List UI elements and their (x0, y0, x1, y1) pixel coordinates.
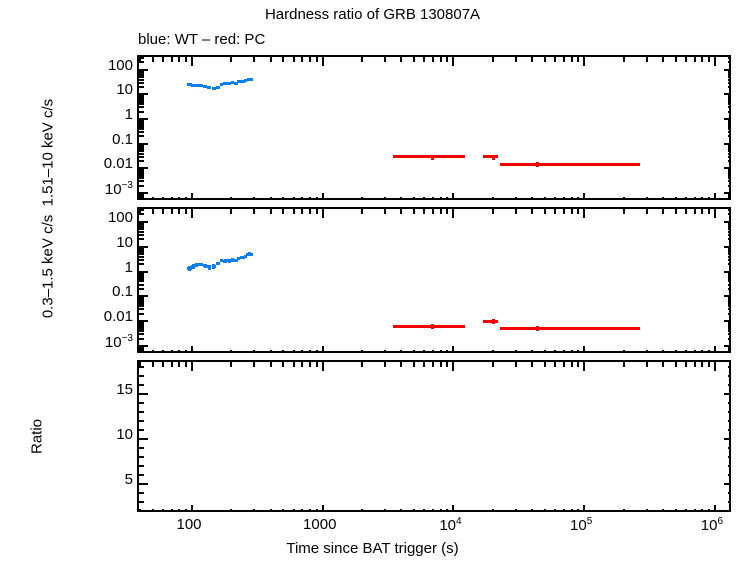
x-tick-minor (544, 197, 546, 198)
x-tick-minor (531, 197, 533, 198)
x-tick-minor (577, 350, 579, 351)
x-tick-major (322, 346, 324, 351)
y-tick-minor (728, 328, 729, 330)
y-tick-major (724, 192, 729, 194)
x-tick-major (452, 505, 454, 510)
x-tick-minor (440, 509, 442, 510)
y-tick-minor (139, 150, 144, 152)
x-tick-minor (400, 362, 402, 367)
x-tick-major (714, 209, 716, 218)
y-tick-label: 10−3 (63, 180, 133, 198)
wt-data-point-yerr (208, 86, 211, 89)
x-tick-minor (152, 209, 154, 214)
y-tick-minor (139, 228, 144, 230)
x-tick-minor (544, 362, 546, 367)
y-tick-minor (728, 128, 729, 130)
x-tick-major (583, 57, 585, 66)
x-tick-minor (361, 57, 363, 62)
y-tick-minor (139, 234, 144, 236)
x-tick-minor (361, 362, 363, 367)
wt-data-point-yerr (208, 265, 211, 270)
panel-hard-band (137, 55, 731, 200)
y-tick-major (139, 271, 148, 273)
x-tick-minor (685, 509, 687, 510)
x-tick-minor (316, 509, 318, 510)
y-tick-label: 0.1 (63, 283, 133, 300)
x-tick-major (452, 346, 454, 351)
x-tick-minor (384, 209, 386, 214)
panel-soft-band (137, 207, 731, 353)
x-tick-minor (316, 362, 318, 367)
y-tick-minor (139, 492, 144, 494)
x-tick-minor (413, 509, 415, 510)
y-tick-minor (139, 429, 144, 431)
x-tick-minor (694, 57, 696, 62)
x-tick-minor (309, 509, 311, 510)
x-tick-minor (253, 509, 255, 510)
y-tick-minor (139, 135, 144, 137)
y-tick-minor (139, 366, 144, 368)
x-tick-minor (423, 362, 425, 367)
y-tick-minor (139, 185, 144, 187)
x-tick-minor (316, 209, 318, 214)
x-tick-minor (253, 197, 255, 198)
x-tick-minor (270, 197, 272, 198)
y-tick-minor (728, 231, 729, 233)
y-tick-minor (139, 284, 144, 286)
x-tick-minor (544, 57, 546, 62)
x-tick-minor (230, 209, 232, 214)
x-tick-minor (400, 209, 402, 214)
x-tick-minor (446, 509, 448, 510)
x-tick-minor (282, 57, 284, 62)
y-tick-label: 15 (63, 381, 133, 398)
x-tick-minor (623, 197, 625, 198)
x-tick-major (322, 505, 324, 510)
y-tick-label: 1 (63, 106, 133, 123)
y-tick-major (139, 295, 148, 297)
x-tick-minor (446, 57, 448, 62)
y-tick-minor (728, 492, 729, 494)
y-tick-minor (728, 76, 729, 78)
x-tick-minor (413, 209, 415, 214)
x-tick-minor (571, 57, 573, 62)
x-tick-minor (544, 209, 546, 214)
x-tick-minor (230, 350, 232, 351)
y-tick-minor (728, 153, 729, 155)
y-tick-minor (728, 333, 729, 335)
x-tick-minor (413, 57, 415, 62)
y-tick-minor (728, 474, 729, 476)
y-tick-minor (728, 79, 729, 81)
wt-data-point-yerr (204, 85, 207, 88)
x-tick-minor (577, 197, 579, 198)
y-tick-minor (728, 103, 729, 105)
x-tick-minor (413, 362, 415, 367)
x-tick-minor (152, 350, 154, 351)
y-tick-major (724, 143, 729, 145)
x-tick-minor (162, 350, 164, 351)
y-tick-minor (139, 76, 144, 78)
x-tick-minor (400, 350, 402, 351)
x-tick-minor (544, 350, 546, 351)
pc-data-point-yerr (536, 326, 539, 331)
x-tick-minor (361, 209, 363, 214)
y-tick-minor (728, 402, 729, 404)
y-tick-minor (728, 177, 729, 179)
x-tick-major (191, 362, 193, 371)
x-tick-minor (694, 350, 696, 351)
y-tick-major (724, 69, 729, 71)
x-tick-minor (185, 209, 187, 214)
y-tick-major (139, 246, 148, 248)
y-tick-minor (728, 253, 729, 255)
y-tick-minor (139, 238, 144, 240)
x-tick-minor (492, 197, 494, 198)
x-tick-minor (544, 509, 546, 510)
x-tick-minor (384, 57, 386, 62)
y-tick-minor (139, 375, 144, 377)
x-tick-minor (384, 350, 386, 351)
x-tick-minor (270, 209, 272, 214)
x-tick-minor (675, 362, 677, 367)
x-tick-minor (432, 209, 434, 214)
y-axis-label-counts: 0.3–1.5 keV c/s 1.51–10 keV c/s (40, 44, 57, 374)
y-tick-minor (728, 175, 729, 177)
y-tick-minor (728, 86, 729, 88)
pc-data-point-xerr (483, 155, 499, 158)
x-tick-minor (685, 362, 687, 367)
y-tick-label: 10 (63, 234, 133, 251)
y-tick-minor (728, 101, 729, 103)
x-tick-major (452, 209, 454, 218)
x-tick-major (191, 57, 193, 66)
x-tick-minor (515, 197, 517, 198)
x-tick-minor (178, 362, 180, 367)
x-tick-major (714, 505, 716, 510)
x-tick-label: 104 (410, 516, 490, 534)
x-tick-minor (685, 57, 687, 62)
hardness-ratio-figure: Hardness ratio of GRB 130807A blue: WT –… (0, 0, 745, 566)
x-tick-minor (623, 57, 625, 62)
x-tick-minor (531, 209, 533, 214)
y-tick-minor (139, 411, 144, 413)
y-tick-minor (728, 375, 729, 377)
x-tick-minor (577, 209, 579, 214)
wt-data-point-yerr (212, 87, 215, 90)
wt-data-point-yerr (224, 259, 227, 263)
y-tick-minor (139, 209, 144, 211)
x-tick-minor (554, 57, 556, 62)
x-tick-minor (293, 362, 295, 367)
y-tick-minor (728, 213, 729, 215)
y-tick-minor (728, 278, 729, 280)
x-tick-major (452, 57, 454, 66)
y-tick-minor (728, 209, 729, 211)
x-tick-minor (440, 350, 442, 351)
y-tick-major (724, 246, 729, 248)
x-tick-minor (646, 362, 648, 367)
x-tick-minor (400, 509, 402, 510)
y-tick-minor (139, 384, 144, 386)
x-tick-minor (309, 209, 311, 214)
x-tick-minor (384, 197, 386, 198)
y-tick-label: 100 (63, 209, 133, 226)
pc-data-point-xerr (500, 327, 640, 330)
x-tick-minor (178, 350, 180, 351)
y-tick-minor (728, 160, 729, 162)
x-tick-label: 100 (149, 516, 229, 533)
x-tick-minor (694, 197, 696, 198)
y-tick-label: 5 (63, 471, 133, 488)
x-tick-minor (178, 209, 180, 214)
x-tick-minor (694, 209, 696, 214)
pc-data-point-xerr (483, 320, 499, 323)
x-tick-major (191, 505, 193, 510)
x-tick-minor (554, 362, 556, 367)
y-tick-major (139, 93, 148, 95)
y-tick-major (724, 483, 729, 485)
x-tick-minor (423, 509, 425, 510)
y-tick-major (139, 320, 148, 322)
y-tick-minor (139, 288, 144, 290)
y-tick-minor (728, 61, 729, 63)
x-tick-minor (571, 197, 573, 198)
x-tick-major (191, 209, 193, 218)
wt-data-point-yerr (250, 253, 253, 256)
y-tick-minor (728, 150, 729, 152)
x-tick-minor (253, 350, 255, 351)
y-tick-minor (139, 305, 144, 307)
x-tick-minor (171, 197, 173, 198)
x-tick-minor (384, 509, 386, 510)
y-tick-minor (728, 238, 729, 240)
y-tick-minor (139, 156, 144, 158)
x-tick-minor (423, 197, 425, 198)
y-tick-minor (728, 263, 729, 265)
x-tick-major (583, 505, 585, 510)
x-tick-minor (293, 509, 295, 510)
x-tick-major (583, 209, 585, 218)
x-tick-minor (446, 350, 448, 351)
x-tick-minor (253, 209, 255, 214)
y-tick-minor (139, 402, 144, 404)
x-tick-minor (492, 57, 494, 62)
x-tick-minor (178, 57, 180, 62)
y-tick-minor (728, 429, 729, 431)
x-tick-minor (162, 209, 164, 214)
x-tick-minor (309, 350, 311, 351)
x-tick-minor (623, 362, 625, 367)
x-tick-minor (152, 57, 154, 62)
x-tick-minor (492, 350, 494, 351)
x-tick-minor (162, 197, 164, 198)
x-tick-minor (361, 350, 363, 351)
x-tick-minor (701, 362, 703, 367)
x-tick-major (714, 193, 716, 198)
x-tick-minor (301, 197, 303, 198)
x-tick-minor (178, 197, 180, 198)
x-tick-minor (708, 362, 710, 367)
y-tick-minor (139, 106, 144, 108)
y-tick-label: 0.01 (63, 308, 133, 325)
y-tick-major (724, 345, 729, 347)
x-tick-minor (400, 197, 402, 198)
y-tick-minor (728, 313, 729, 315)
y-tick-major (724, 393, 729, 395)
x-tick-major (714, 346, 716, 351)
y-tick-minor (139, 330, 144, 332)
x-tick-minor (316, 350, 318, 351)
x-tick-minor (708, 209, 710, 214)
x-tick-minor (662, 57, 664, 62)
y-tick-major (724, 271, 729, 273)
x-tick-minor (162, 509, 164, 510)
x-tick-minor (701, 350, 703, 351)
x-tick-minor (270, 57, 272, 62)
x-tick-minor (646, 57, 648, 62)
y-tick-major (139, 345, 148, 347)
y-tick-minor (728, 303, 729, 305)
y-tick-minor (139, 103, 144, 105)
x-tick-minor (301, 362, 303, 367)
y-tick-minor (728, 366, 729, 368)
y-tick-major (139, 69, 148, 71)
x-tick-minor (400, 57, 402, 62)
y-tick-minor (728, 447, 729, 449)
x-tick-minor (432, 362, 434, 367)
x-tick-minor (301, 350, 303, 351)
x-tick-minor (685, 350, 687, 351)
x-tick-minor (563, 209, 565, 214)
x-tick-major (452, 193, 454, 198)
y-tick-minor (728, 234, 729, 236)
x-tick-minor (316, 57, 318, 62)
panel-ratio (137, 360, 731, 512)
x-tick-minor (554, 509, 556, 510)
x-tick-minor (282, 209, 284, 214)
x-tick-minor (531, 362, 533, 367)
x-tick-minor (571, 350, 573, 351)
x-tick-minor (171, 57, 173, 62)
x-tick-minor (185, 362, 187, 367)
x-tick-minor (563, 57, 565, 62)
x-tick-label: 105 (541, 516, 621, 534)
x-tick-minor (316, 197, 318, 198)
y-tick-minor (728, 384, 729, 386)
y-tick-minor (728, 57, 729, 59)
y-tick-major (724, 93, 729, 95)
x-tick-minor (554, 209, 556, 214)
y-tick-minor (728, 126, 729, 128)
x-tick-minor (230, 57, 232, 62)
x-tick-minor (554, 350, 556, 351)
y-tick-minor (728, 131, 729, 133)
x-tick-minor (623, 509, 625, 510)
x-tick-minor (708, 197, 710, 198)
x-tick-minor (293, 57, 295, 62)
x-tick-minor (185, 350, 187, 351)
x-tick-minor (384, 362, 386, 367)
x-tick-minor (282, 509, 284, 510)
x-tick-major (322, 193, 324, 198)
y-tick-minor (139, 256, 144, 258)
x-tick-minor (282, 197, 284, 198)
x-tick-major (191, 346, 193, 351)
y-tick-minor (728, 465, 729, 467)
x-tick-minor (282, 362, 284, 367)
x-tick-minor (301, 509, 303, 510)
pc-data-point-xerr (393, 325, 465, 328)
x-tick-minor (270, 362, 272, 367)
x-tick-major (714, 362, 716, 371)
x-tick-minor (675, 350, 677, 351)
y-tick-major (724, 438, 729, 440)
x-tick-minor (708, 350, 710, 351)
wt-data-point-yerr (217, 262, 220, 265)
y-tick-minor (728, 420, 729, 422)
x-tick-minor (309, 197, 311, 198)
y-tick-minor (139, 278, 144, 280)
y-tick-minor (139, 259, 144, 261)
y-tick-minor (728, 106, 729, 108)
pc-data-point-yerr (536, 162, 539, 167)
x-tick-minor (577, 509, 579, 510)
x-tick-minor (492, 209, 494, 214)
x-tick-minor (185, 509, 187, 510)
x-tick-major (583, 346, 585, 351)
x-tick-minor (171, 362, 173, 367)
x-tick-minor (701, 209, 703, 214)
pc-data-point-yerr (431, 155, 434, 160)
plot-area-ratio (139, 362, 729, 510)
y-tick-minor (139, 253, 144, 255)
pc-data-point-xerr (393, 155, 465, 158)
y-tick-major (724, 320, 729, 322)
wt-data-point-yerr (217, 86, 220, 89)
x-tick-minor (662, 350, 664, 351)
x-tick-minor (293, 209, 295, 214)
y-tick-minor (139, 111, 144, 113)
legend-text: blue: WT – red: PC (138, 31, 265, 48)
plot-area-soft-band (139, 209, 729, 351)
x-tick-minor (675, 509, 677, 510)
x-tick-minor (515, 57, 517, 62)
x-tick-minor (301, 57, 303, 62)
y-tick-major (139, 438, 148, 440)
x-tick-minor (253, 57, 255, 62)
x-tick-minor (440, 57, 442, 62)
x-tick-minor (440, 362, 442, 367)
y-tick-minor (139, 57, 144, 59)
y-axis-label-ratio: Ratio (29, 377, 46, 497)
y-tick-label: 10 (63, 81, 133, 98)
x-tick-minor (253, 362, 255, 367)
y-tick-major (724, 118, 729, 120)
y-tick-minor (139, 328, 144, 330)
y-tick-minor (139, 333, 144, 335)
x-tick-minor (531, 509, 533, 510)
y-tick-minor (728, 280, 729, 282)
x-tick-minor (662, 362, 664, 367)
y-tick-minor (139, 86, 144, 88)
x-tick-minor (282, 350, 284, 351)
pc-data-point-xerr (500, 163, 640, 166)
y-tick-minor (728, 456, 729, 458)
x-tick-minor (440, 209, 442, 214)
y-tick-minor (728, 288, 729, 290)
x-tick-minor (708, 509, 710, 510)
